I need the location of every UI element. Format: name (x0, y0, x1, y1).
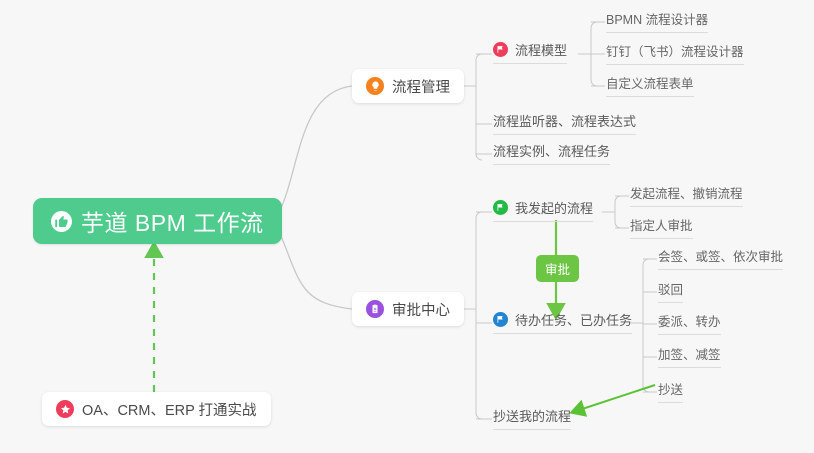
node-assignee-approval[interactable]: 指定人审批 (630, 215, 693, 239)
branch-node-process-management[interactable]: 流程管理 (352, 69, 464, 103)
node-label-cc-to-me-processes: 抄送我的流程 (493, 406, 571, 425)
link-process-mgmt-bracket (476, 54, 482, 160)
branch-node-approval-center[interactable]: 审批中心 (352, 292, 464, 326)
node-process-instance-task[interactable]: 流程实例、流程任务 (493, 141, 610, 165)
node-bpmn-designer[interactable]: BPMN 流程设计器 (606, 9, 708, 33)
node-label-bpmn-designer: BPMN 流程设计器 (606, 9, 708, 28)
floating-node-integration[interactable]: OA、CRM、ERP 打通实战 (42, 392, 271, 426)
node-start-cancel-process[interactable]: 发起流程、撤销流程 (630, 183, 743, 207)
node-label-todo-done-tasks: 待办任务、已办任务 (515, 310, 632, 329)
node-label-carbon-copy: 抄送 (658, 379, 683, 398)
node-process-listener-expression[interactable]: 流程监听器、流程表达式 (493, 111, 636, 135)
node-label-my-started-processes: 我发起的流程 (515, 198, 593, 217)
branch-label-approval-center: 审批中心 (392, 299, 450, 320)
node-countersign-orsign-sequential[interactable]: 会签、或签、依次审批 (658, 246, 783, 270)
node-custom-process-form[interactable]: 自定义流程表单 (606, 73, 694, 97)
node-label-assignee-approval: 指定人审批 (630, 215, 693, 234)
node-add-remove-sign[interactable]: 加签、减签 (658, 344, 721, 368)
mindmap-canvas: 芋道 BPM 工作流 流程管理 流程模型 BPMN 流程设计器 钉钉（飞书）流程… (0, 0, 814, 453)
node-dingtalk-feishu-designer[interactable]: 钉钉（飞书）流程设计器 (606, 41, 744, 65)
root-node[interactable]: 芋道 BPM 工作流 (33, 198, 282, 244)
lightbulb-icon (366, 77, 384, 95)
node-label-start-cancel-process: 发起流程、撤销流程 (630, 183, 743, 202)
node-carbon-copy[interactable]: 抄送 (658, 379, 683, 403)
node-label-add-remove-sign: 加签、减签 (658, 344, 721, 363)
node-label-dingtalk-feishu-designer: 钉钉（飞书）流程设计器 (606, 41, 744, 60)
link-process-model-bracket (591, 22, 597, 86)
node-delegate-transfer[interactable]: 委派、转办 (658, 311, 721, 335)
node-process-model[interactable]: 流程模型 (493, 40, 567, 64)
thumbs-up-icon (51, 211, 72, 232)
node-label-delegate-transfer: 委派、转办 (658, 311, 721, 330)
link-root-to-approval-center (281, 236, 352, 309)
node-label-process-listener-expression: 流程监听器、流程表达式 (493, 111, 636, 130)
node-reject[interactable]: 驳回 (658, 279, 683, 303)
flag-icon (493, 42, 508, 57)
approval-badge: 审批 (536, 255, 579, 282)
link-root-to-process-mgmt (281, 86, 352, 208)
floating-node-label-integration: OA、CRM、ERP 打通实战 (82, 399, 257, 420)
node-label-custom-process-form: 自定义流程表单 (606, 73, 694, 92)
link-approval-center-bracket (476, 212, 482, 419)
node-cc-to-me-processes[interactable]: 抄送我的流程 (493, 406, 571, 430)
node-label-reject: 驳回 (658, 279, 683, 298)
node-label-process-model: 流程模型 (515, 40, 567, 59)
node-label-process-instance-task: 流程实例、流程任务 (493, 141, 610, 160)
link-my-started-bracket (615, 196, 621, 228)
node-todo-done-tasks[interactable]: 待办任务、已办任务 (493, 310, 632, 334)
root-label: 芋道 BPM 工作流 (81, 204, 264, 238)
node-my-started-processes[interactable]: 我发起的流程 (493, 198, 593, 222)
flag-icon (493, 200, 508, 215)
cc-flow-arrow (573, 385, 655, 412)
branch-label-process-management: 流程管理 (392, 76, 450, 97)
node-label-countersign-orsign-sequential: 会签、或签、依次审批 (658, 246, 783, 265)
star-icon (56, 400, 74, 418)
flag-icon (493, 312, 508, 327)
clipboard-icon (366, 300, 384, 318)
link-todo-tasks-bracket (643, 259, 649, 392)
